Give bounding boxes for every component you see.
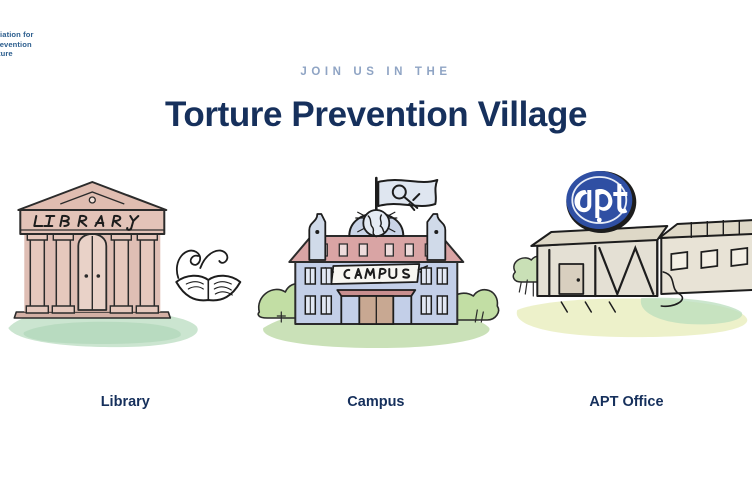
village-card-label-library: Library (0, 394, 251, 410)
campus-building-illustration (251, 160, 502, 370)
apt-office-building-illustration (501, 160, 752, 370)
apt-logo[interactable]: association for the prevention of tortur… (0, 30, 98, 59)
logo-line-3: of torture (0, 49, 98, 59)
torture-prevention-village-page: association for the prevention of tortur… (0, 0, 752, 488)
village-card-campus[interactable]: Campus (251, 160, 502, 430)
library-building-illustration (0, 160, 251, 370)
village-card-library[interactable]: Library (0, 160, 251, 430)
logo-line-2: the prevention (0, 40, 98, 50)
page-eyebrow: JOIN US IN THE (0, 66, 752, 78)
village-card-label-campus: Campus (251, 394, 502, 410)
village-card-apt-office[interactable]: APT Office (501, 160, 752, 430)
page-title: Torture Prevention Village (0, 95, 752, 135)
village-card-label-apt-office: APT Office (501, 394, 752, 410)
logo-line-1: association for (0, 30, 98, 40)
village-card-list: Library (0, 160, 752, 430)
